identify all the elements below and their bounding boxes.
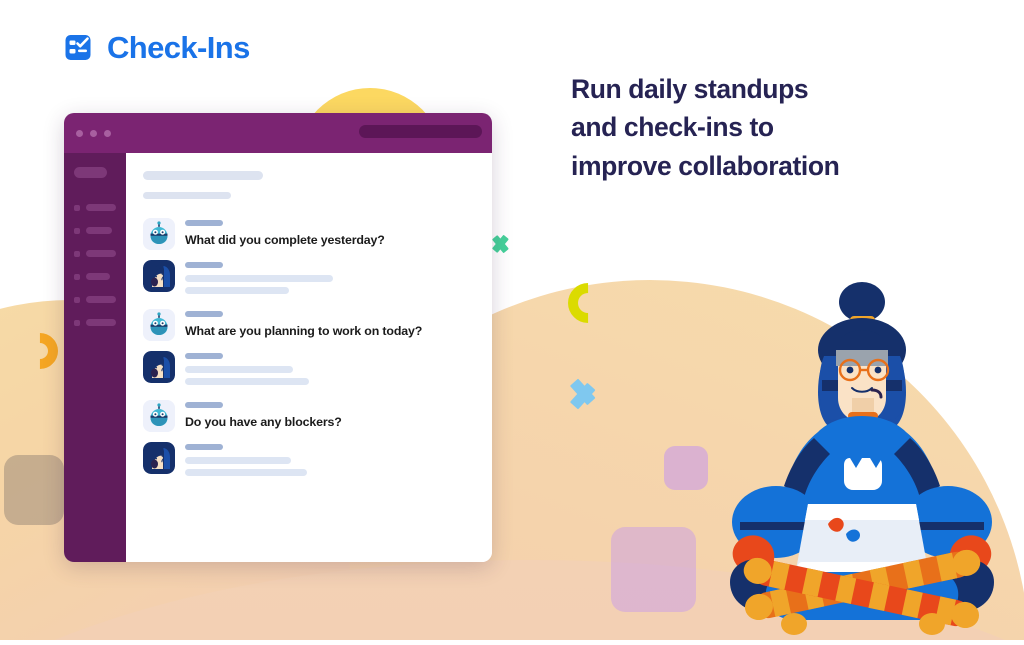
bot-avatar [143,400,175,432]
sender-name-placeholder [185,353,223,359]
sidebar-item-3[interactable] [74,250,116,257]
message-text-placeholder [185,457,291,464]
headline-line-2: and check-ins to [571,108,991,146]
message-body [185,351,472,390]
brand-title: Check-Ins [107,30,250,66]
message-body: Do you have any blockers? [185,400,472,432]
blue-chevron-right-icon [572,383,598,405]
sidebar-item-icon [74,320,80,326]
page-headline: Run daily standups and check-ins to impr… [571,70,991,185]
message-text: Do you have any blockers? [185,415,472,429]
sender-name-placeholder [185,402,223,408]
message-body [185,442,472,481]
window-dot-maximize[interactable] [104,130,111,137]
sidebar-item-icon [74,274,80,280]
user-avatar [143,260,175,292]
sidebar-item-6[interactable] [74,319,116,326]
sender-name-placeholder [185,444,223,450]
sender-name-placeholder [185,220,223,226]
sidebar-header-placeholder [74,167,107,178]
sidebar-item-4[interactable] [74,273,116,280]
purple-square-large-decoration [611,527,696,612]
sidebar-item-icon [74,205,80,211]
gray-rounded-square-decoration [4,455,64,525]
bot-avatar [143,309,175,341]
window-body: What did you complete yesterday? [64,153,492,562]
message-body: What did you complete yesterday? [185,218,472,250]
content-subtitle-placeholder [143,192,231,199]
sidebar-item-5[interactable] [74,296,116,303]
sidebar-item-icon [74,228,80,234]
list-item[interactable]: Do you have any blockers? [143,400,472,432]
sidebar-item-icon [74,251,80,257]
list-item[interactable]: What are you planning to work on today? [143,309,472,341]
sidebar-item-icon [74,297,80,303]
user-avatar [143,351,175,383]
list-item[interactable]: What did you complete yesterday? [143,218,472,250]
message-text-placeholder [185,469,307,476]
message-text-placeholder [185,287,289,294]
chat-content: What did you complete yesterday? [126,153,492,562]
list-item[interactable] [143,442,472,481]
message-body: What are you planning to work on today? [185,309,472,341]
window-dot-close[interactable] [76,130,83,137]
sender-name-placeholder [185,311,223,317]
message-text: What are you planning to work on today? [185,324,472,338]
message-text-placeholder [185,275,333,282]
sender-name-placeholder [185,262,223,268]
message-text-placeholder [185,366,293,373]
message-body [185,260,472,299]
app-sidebar [64,153,126,562]
checklist-icon [64,33,94,63]
message-text: What did you complete yesterday? [185,233,472,247]
list-item[interactable] [143,260,472,299]
user-avatar [143,442,175,474]
brand-header: Check-Ins [64,30,250,66]
headline-line-1: Run daily standups [571,70,991,108]
search-input[interactable] [359,125,482,138]
window-traffic-lights[interactable] [76,130,111,137]
headline-line-3: improve collaboration [571,147,991,185]
bot-avatar [143,218,175,250]
woman-with-laptop-illustration [700,272,1024,640]
sidebar-item-2[interactable] [74,227,116,234]
window-titlebar [64,113,492,153]
list-item[interactable] [143,351,472,390]
app-window: What did you complete yesterday? [64,113,492,562]
sidebar-item-1[interactable] [74,204,116,211]
message-text-placeholder [185,378,309,385]
content-title-placeholder [143,171,263,180]
window-dot-minimize[interactable] [90,130,97,137]
